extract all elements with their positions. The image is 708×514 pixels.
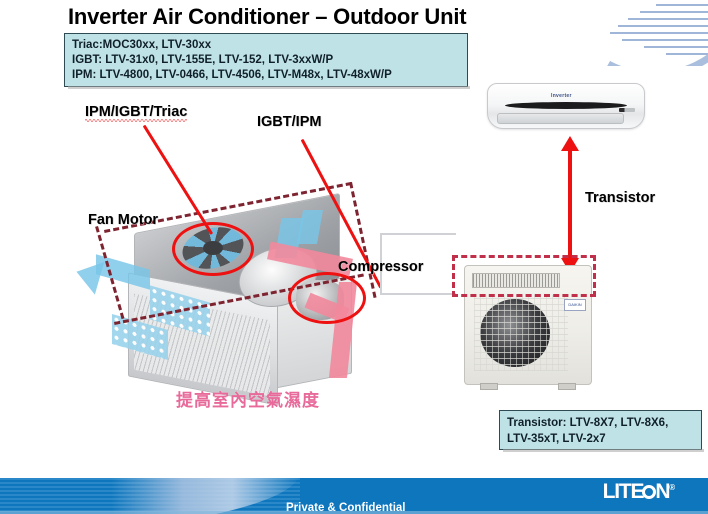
indoor-unit-louver [497, 113, 624, 124]
slide-footer: Private & Confidential LITEN® [0, 478, 708, 514]
chinese-watermark-text: 提高室內空氣濕度 [176, 386, 320, 411]
part-line-ipm: IPM: LTV-4800, LTV-0466, LTV-4506, LTV-M… [72, 68, 461, 83]
outdoor-unit-brand-badge: DAIKIN [564, 299, 586, 311]
indoor-split-ac-unit: Inverter [487, 83, 645, 129]
fan-motor-highlight-ellipse [172, 222, 254, 276]
box-shadow-edge [503, 449, 704, 452]
outdoor-unit-grille [474, 295, 568, 371]
liteon-logo-right: N [655, 480, 669, 503]
indoor-unit-brand-label: Inverter [551, 93, 572, 99]
indoor-unit-display-led [619, 108, 635, 112]
registered-trademark-symbol: ® [669, 483, 674, 492]
callout-igbt-ipm: IGBT/IPM [257, 114, 321, 130]
page-title: Inverter Air Conditioner – Outdoor Unit [68, 4, 466, 30]
outdoor-unit-foot-left [480, 383, 498, 390]
callout-fan-motor: Fan Motor [88, 212, 158, 228]
corner-decoration-fan [590, 0, 708, 66]
part-line-igbt: IGBT: LTV-31x0, LTV-155E, LTV-152, LTV-3… [72, 53, 461, 68]
compressor-highlight-ellipse [288, 272, 366, 324]
liteon-logo-left: LITE [603, 480, 644, 503]
callout-compressor: Compressor [338, 259, 423, 275]
link-arrow-head-up [561, 136, 579, 151]
callout-transistor: Transistor [585, 190, 655, 206]
transistor-part-numbers-box: Transistor: LTV-8X7, LTV-8X6, LTV-35xT, … [499, 410, 702, 450]
part-line-triac: Triac:MOC30xx, LTV-30xx [72, 38, 461, 53]
indoor-unit-air-slot [505, 102, 627, 109]
indoor-outdoor-link-arrow [568, 148, 572, 260]
transistor-line-1: Transistor: LTV-8X7, LTV-8X6, [507, 415, 695, 431]
transistor-line-2: LTV-35xT, LTV-2x7 [507, 431, 695, 447]
slide-canvas: Inverter Air Conditioner – Outdoor Unit … [0, 0, 708, 514]
box-shadow-edge [68, 86, 470, 89]
outdoor-unit-dashed-highlight [452, 255, 596, 297]
callout-ipm-igbt-triac: IPM/IGBT/Triac [85, 104, 187, 122]
component-part-numbers-box: Triac:MOC30xx, LTV-30xx IGBT: LTV-31x0, … [64, 33, 468, 87]
outdoor-unit-foot-right [558, 383, 576, 390]
liteon-logo: LITEN® [603, 480, 674, 504]
